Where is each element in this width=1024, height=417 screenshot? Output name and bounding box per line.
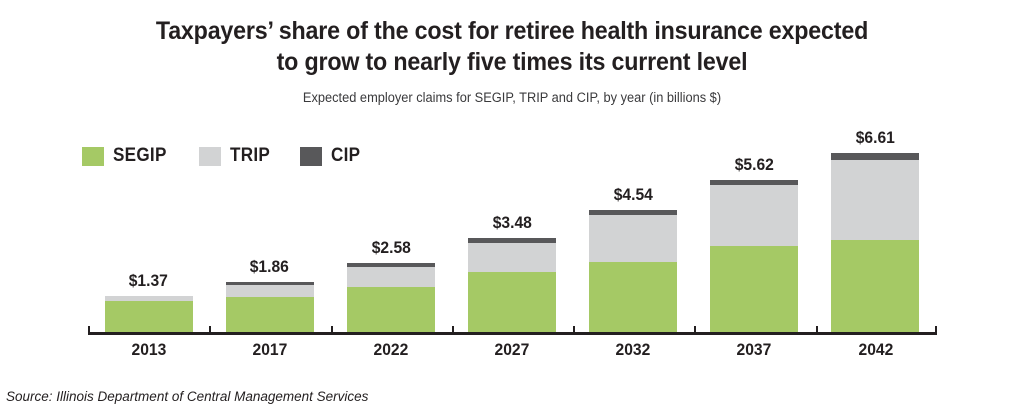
- bar-segment-segip-2032[interactable]: [589, 262, 677, 333]
- x-axis-tick-1: [209, 326, 211, 333]
- bar-value-label-2037: $5.62: [735, 155, 774, 175]
- page-title: Taxpayers’ share of the cost for retiree…: [140, 16, 884, 78]
- x-axis-tick-0: [88, 326, 90, 333]
- bar-slot-2022[interactable]: $2.58: [330, 120, 451, 333]
- source-note: Source: Illinois Department of Central M…: [6, 389, 368, 404]
- bar-segment-segip-2017[interactable]: [226, 297, 314, 333]
- x-axis-label-2017: 2017: [209, 340, 330, 360]
- title-block: Taxpayers’ share of the cost for retiree…: [0, 0, 1024, 105]
- chart-subtitle: Expected employer claims for SEGIP, TRIP…: [26, 90, 999, 105]
- bar-segment-trip-2022[interactable]: [347, 267, 435, 287]
- bar-slot-2017[interactable]: $1.86: [209, 120, 330, 333]
- chart-title-line-1: Taxpayers’ share of the cost for retiree…: [140, 16, 884, 47]
- bar-value-label-2032: $4.54: [614, 185, 653, 205]
- x-axis-label-2032: 2032: [573, 340, 694, 360]
- chart-plot-area: $1.37$1.86$2.58$3.48$4.54$5.62$6.61: [88, 120, 936, 333]
- bar-group: $1.37$1.86$2.58$3.48$4.54$5.62$6.61: [88, 120, 936, 333]
- x-axis-label-2042: 2042: [815, 340, 936, 360]
- x-axis-label-text: 2022: [373, 340, 408, 360]
- x-axis-label-text: 2037: [737, 340, 772, 360]
- x-axis-line: [88, 332, 937, 335]
- bar-slot-2042[interactable]: $6.61: [815, 120, 936, 333]
- bar-stack-2032: [589, 210, 677, 333]
- bar-slot-2013[interactable]: $1.37: [88, 120, 209, 333]
- bar-segment-trip-2042[interactable]: [831, 160, 919, 240]
- x-axis-tick-5: [694, 326, 696, 333]
- bar-segment-cip-2042[interactable]: [831, 153, 919, 160]
- bar-segment-segip-2022[interactable]: [347, 287, 435, 334]
- bar-segment-segip-2037[interactable]: [710, 246, 798, 333]
- bar-segment-trip-2032[interactable]: [589, 215, 677, 262]
- bar-slot-2032[interactable]: $4.54: [573, 120, 694, 333]
- bar-stack-2017: [226, 282, 314, 333]
- bar-segment-segip-2013[interactable]: [105, 301, 193, 333]
- bar-segment-segip-2027[interactable]: [468, 272, 556, 333]
- bar-slot-2037[interactable]: $5.62: [694, 120, 815, 333]
- x-axis-label-text: 2042: [858, 340, 893, 360]
- bar-stack-2013: [105, 296, 193, 333]
- bar-value-label-2027: $3.48: [492, 213, 531, 233]
- x-axis-tick-2: [331, 326, 333, 333]
- x-axis-label-text: 2032: [616, 340, 651, 360]
- bar-value-label-2042: $6.61: [856, 128, 895, 148]
- x-axis-label-text: 2027: [495, 340, 530, 360]
- bar-value-label-2022: $2.58: [371, 238, 410, 258]
- bar-segment-trip-2027[interactable]: [468, 243, 556, 272]
- x-axis-tick-3: [452, 326, 454, 333]
- bar-value-label-2017: $1.86: [250, 257, 289, 277]
- bar-slot-2027[interactable]: $3.48: [451, 120, 572, 333]
- x-axis-tick-7: [935, 326, 937, 333]
- bar-stack-2022: [347, 263, 435, 333]
- x-axis-tick-6: [816, 326, 818, 333]
- x-axis-label-text: 2013: [131, 340, 166, 360]
- x-axis-label-2037: 2037: [694, 340, 815, 360]
- x-axis-labels: 2013201720222027203220372042: [88, 340, 936, 360]
- bar-stack-2042: [831, 153, 919, 333]
- chart-title-line-2: to grow to nearly five times its current…: [140, 47, 884, 78]
- bar-stack-2037: [710, 180, 798, 333]
- bar-segment-trip-2017[interactable]: [226, 285, 314, 296]
- x-axis-tick-4: [573, 326, 575, 333]
- x-axis-label-text: 2017: [252, 340, 287, 360]
- x-axis-label-2027: 2027: [451, 340, 572, 360]
- x-axis-label-2013: 2013: [88, 340, 209, 360]
- x-axis-label-2022: 2022: [330, 340, 451, 360]
- bar-segment-trip-2037[interactable]: [710, 185, 798, 246]
- bar-value-label-2013: $1.37: [129, 271, 168, 291]
- bar-segment-segip-2042[interactable]: [831, 240, 919, 333]
- bar-stack-2027: [468, 238, 556, 333]
